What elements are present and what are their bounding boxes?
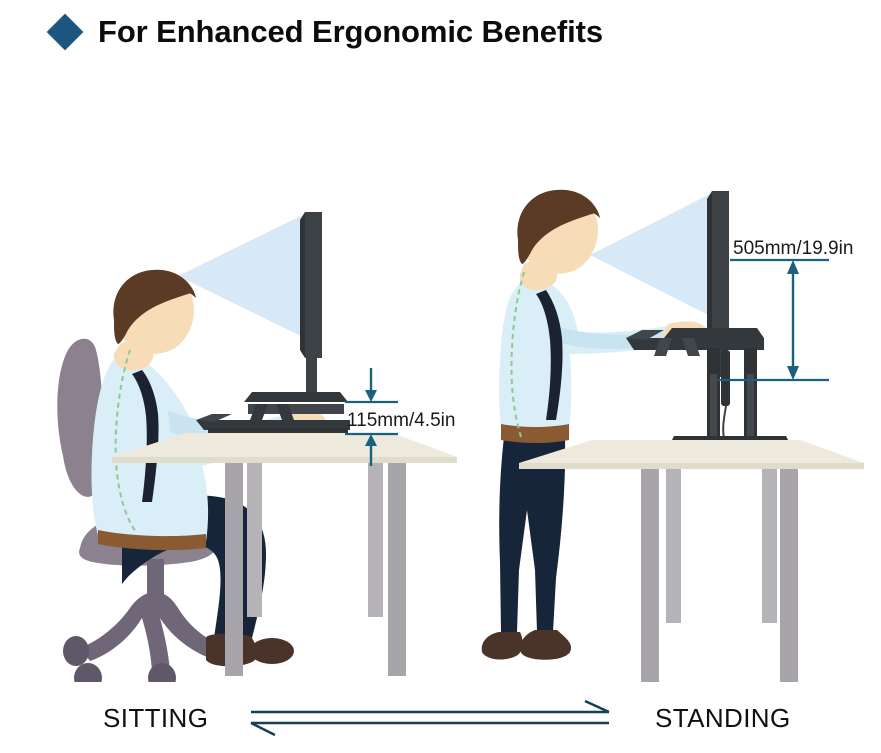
diamond-icon xyxy=(47,13,84,50)
seated-person-shoe-rear xyxy=(250,638,294,664)
sitting-measurement-label: 115mm/4.5in xyxy=(347,410,455,431)
standing-label: STANDING xyxy=(655,703,791,734)
desk-leg-front-left xyxy=(225,463,243,676)
desk-leg-back-left xyxy=(247,463,262,617)
desk-leg-front-right-standing xyxy=(780,469,798,682)
standing-height-measurement: 505mm/19.9in xyxy=(718,238,853,380)
riser-top-surface-sitting xyxy=(244,392,348,402)
chair-base xyxy=(80,592,222,676)
chair-wheel xyxy=(74,663,102,682)
chair-wheel xyxy=(63,636,89,666)
monitor-panel-standing xyxy=(712,191,729,337)
riser-cable xyxy=(723,406,726,438)
ergonomic-benefits-infographic: For Enhanced Ergonomic Benefits xyxy=(0,0,881,753)
desk-top-edge-sitting xyxy=(112,457,457,463)
desk-leg-front-left-standing xyxy=(641,469,659,682)
standing-person-shoe-front xyxy=(520,630,571,660)
standing-person-shoe-back xyxy=(482,632,523,659)
mode-transition-footer: SITTING STANDING xyxy=(0,682,881,753)
desk-top-edge-standing xyxy=(519,463,864,469)
desk-leg-back-right-standing xyxy=(762,469,777,623)
illustration-stage: 115mm/4.5in xyxy=(0,62,881,682)
standing-measurement-label: 505mm/19.9in xyxy=(733,238,853,259)
sitting-label: SITTING xyxy=(103,703,208,734)
standing-workstation-scene: 505mm/19.9in xyxy=(482,190,864,682)
monitor-panel-edge-standing xyxy=(707,191,712,337)
riser-lift-inner-right xyxy=(747,374,754,440)
monitor-panel-edge-sitting xyxy=(300,212,305,358)
riser-gas-spring xyxy=(721,350,730,406)
desk-leg-back-left-standing xyxy=(666,469,681,623)
monitor-stand-neck-sitting xyxy=(306,354,317,392)
riser-lift-inner-left xyxy=(710,374,717,440)
standing-person-torso xyxy=(499,280,682,441)
page-title: For Enhanced Ergonomic Benefits xyxy=(98,16,603,47)
sitting-workstation-scene: 115mm/4.5in xyxy=(57,212,457,682)
desk-top-surface-standing xyxy=(519,440,864,463)
vision-cone-sitting xyxy=(178,214,305,338)
vision-cone-standing xyxy=(590,193,712,317)
bidirectional-arrow-icon xyxy=(247,699,627,739)
monitor-panel-sitting xyxy=(305,212,322,358)
desk-leg-back-right xyxy=(368,463,383,617)
page-header: For Enhanced Ergonomic Benefits xyxy=(0,0,881,62)
riser-top-surface-standing xyxy=(664,328,764,338)
desk-leg-front-right xyxy=(388,463,406,676)
